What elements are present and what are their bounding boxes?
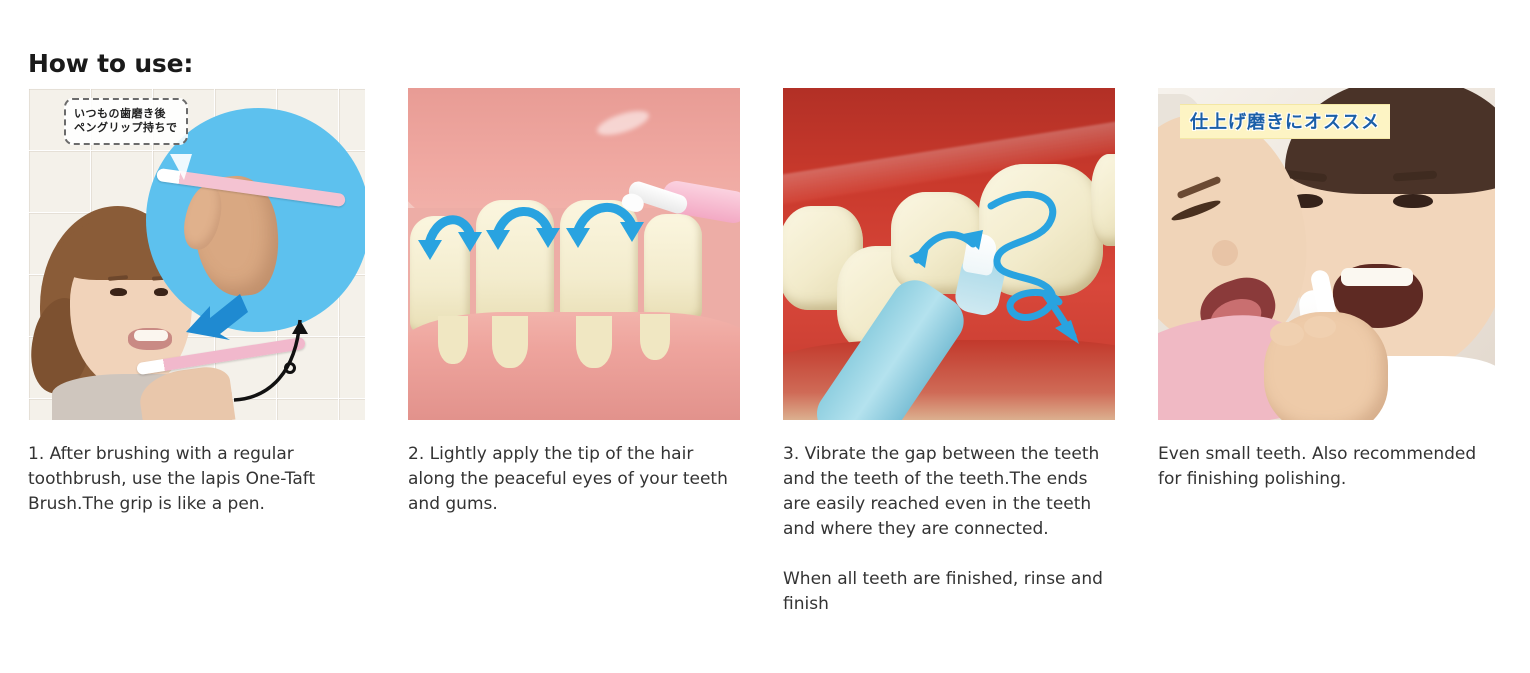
child-eye-right (1393, 194, 1433, 208)
step-3-image (783, 88, 1115, 420)
step-4-caption-text: Even small teeth. Also recommended for f… (1158, 442, 1495, 492)
teeth-shape (134, 330, 168, 341)
step-3-panel: 3. Vibrate the gap between the teeth and… (783, 88, 1115, 617)
step-3-caption-text: 3. Vibrate the gap between the teeth and… (783, 442, 1115, 542)
tooth-root-4 (640, 314, 670, 360)
tooth-root-3 (576, 316, 612, 368)
step-1-caption-text: 1. After brushing with a regular toothbr… (28, 442, 365, 517)
tooth-root-2 (492, 316, 528, 368)
step-3-caption: 3. Vibrate the gap between the teeth and… (783, 442, 1115, 617)
step-3-caption-text-2: When all teeth are finished, rinse and f… (783, 567, 1115, 617)
step-1-image: いつもの歯磨き後 ペングリップ持ちで (28, 88, 365, 420)
tooth-root-1 (438, 316, 468, 364)
how-to-use-panels: いつもの歯磨き後 ペングリップ持ちで 1. After brushing wit… (28, 88, 1498, 617)
step-2-caption-text: 2. Lightly apply the tip of the hair alo… (408, 442, 740, 517)
japanese-recommend-banner: 仕上げ磨きにオススメ (1180, 104, 1390, 139)
step-2-caption: 2. Lightly apply the tip of the hair alo… (408, 442, 740, 517)
child-teeth (1341, 268, 1413, 286)
eye-left (110, 288, 127, 296)
step-1-caption: 1. After brushing with a regular toothbr… (28, 442, 365, 517)
finger-1 (1270, 322, 1304, 346)
curved-callout-arrow-icon (226, 276, 322, 406)
step-4-panel: 仕上げ磨きにオススメ Even small teeth. Also recomm… (1158, 88, 1495, 617)
step-2-panel: 2. Lightly apply the tip of the hair alo… (408, 88, 740, 617)
eye-right (154, 288, 168, 296)
step-4-caption: Even small teeth. Also recommended for f… (1158, 442, 1495, 492)
step-2-image (408, 88, 740, 420)
speech-bubble-tail (170, 154, 192, 180)
step-1-panel: いつもの歯磨き後 ペングリップ持ちで 1. After brushing wit… (28, 88, 365, 617)
blue-vibration-arrows-icon (783, 88, 1115, 420)
page-title: How to use: (28, 51, 193, 76)
japanese-speech-bubble: いつもの歯磨き後 ペングリップ持ちで (64, 98, 188, 145)
step-4-image: 仕上げ磨きにオススメ (1158, 88, 1495, 420)
finger-2 (1304, 316, 1336, 338)
blue-arc-arrows-icon (408, 184, 740, 304)
